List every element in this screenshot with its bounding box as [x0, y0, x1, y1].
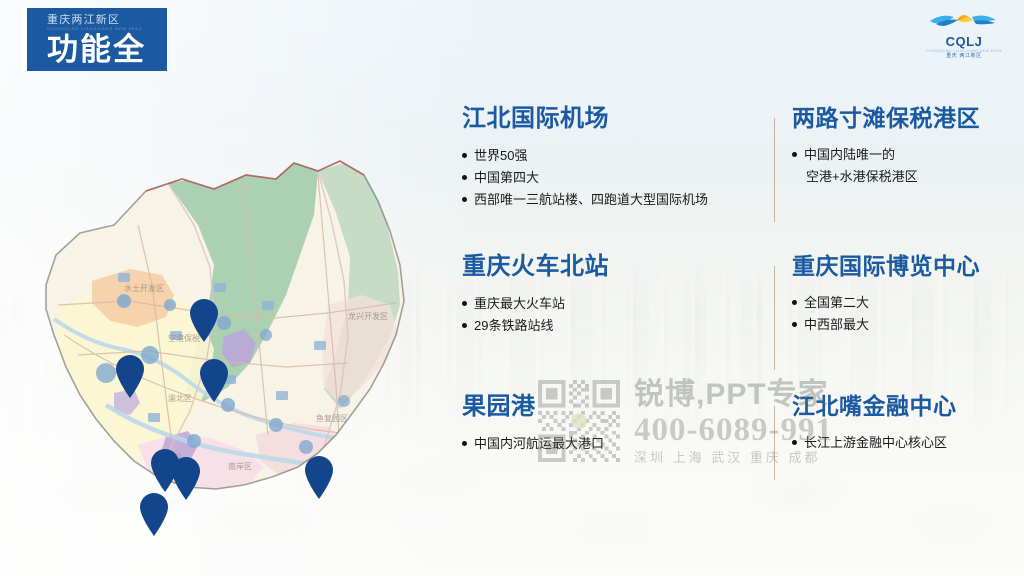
- slide-root: 重庆两江新区 CHONGQING LIANGJIANG NEW AREA 功能全…: [0, 0, 1024, 576]
- section-row-2: 重庆火车北站 重庆最大火车站 29条铁路站线 重庆国际博览中心 全国第二大 中西…: [462, 254, 1014, 394]
- pin-guoyuan-port[interactable]: [303, 454, 335, 500]
- section-bonded-port: 两路寸滩保税港区 中国内陆唯一的 空港+水港保税港区: [774, 106, 1014, 254]
- section-title: 两路寸滩保税港区: [792, 106, 1014, 131]
- section-guoyuan-port: 果园港 中国内河航运最大港口: [462, 394, 774, 506]
- logo-wordmark: CQLJ: [926, 35, 1002, 50]
- map-base: 水土开发区 空港保税 北碚区 渝北区 江北区 南岸区 鱼复园区 龙兴开发区: [18, 105, 438, 505]
- logo-wordmark-cn: 重庆 两江新区: [926, 53, 1002, 60]
- bullet-item: 重庆最大火车站: [462, 293, 760, 315]
- logo-bird-icon: [926, 8, 1002, 30]
- pin-financial-core[interactable]: [138, 491, 170, 537]
- bullet-item: 世界50强: [462, 145, 760, 167]
- map-region: 水土开发区 空港保税 北碚区 渝北区 江北区 南岸区 鱼复园区 龙兴开发区: [18, 105, 438, 505]
- section-rail-north: 重庆火车北站 重庆最大火车站 29条铁路站线: [462, 254, 774, 394]
- pin-bonded-port[interactable]: [198, 357, 230, 403]
- content-columns: 江北国际机场 世界50强 中国第四大 西部唯一三航站楼、四跑道大型国际机场 两路…: [462, 106, 1014, 506]
- page-title: 功能全: [47, 33, 167, 66]
- bullet-item: 29条铁路站线: [462, 315, 760, 337]
- section-title: 果园港: [462, 394, 760, 420]
- section-bullets: 全国第二大 中西部最大: [792, 292, 1014, 336]
- svg-text:渝北区: 渝北区: [168, 393, 192, 403]
- section-expo-center: 重庆国际博览中心 全国第二大 中西部最大: [774, 254, 1014, 394]
- bullet-item-continuation: 空港+水港保税港区: [792, 166, 1014, 188]
- section-airport: 江北国际机场 世界50强 中国第四大 西部唯一三航站楼、四跑道大型国际机场: [462, 106, 774, 254]
- svg-text:鱼复园区: 鱼复园区: [316, 413, 348, 423]
- section-row-3: 果园港 中国内河航运最大港口 江北嘴金融中心 长江上游金融中心核心区: [462, 394, 1014, 506]
- bullet-item: 西部唯一三航站楼、四跑道大型国际机场: [462, 189, 760, 211]
- section-financial-center: 江北嘴金融中心 长江上游金融中心核心区: [774, 394, 1014, 506]
- section-bullets: 中国内陆唯一的 空港+水港保税港区: [792, 144, 1014, 188]
- bullet-item: 中国内陆唯一的: [792, 144, 1014, 166]
- map-illustration: 水土开发区 空港保税 北碚区 渝北区 江北区 南岸区 鱼复园区 龙兴开发区: [18, 105, 438, 505]
- bullet-item: 中国第四大: [462, 167, 760, 189]
- section-bullets: 重庆最大火车站 29条铁路站线: [462, 293, 760, 337]
- section-bullets: 长江上游金融中心核心区: [792, 432, 1014, 454]
- svg-text:龙兴开发区: 龙兴开发区: [348, 311, 388, 321]
- svg-text:南岸区: 南岸区: [228, 461, 252, 471]
- section-title: 重庆国际博览中心: [792, 254, 1014, 279]
- pin-jiangbeizui[interactable]: [170, 455, 202, 501]
- title-badge-subtitle-en: CHONGQING LIANGJIANG NEW AREA: [47, 27, 167, 31]
- section-bullets: 世界50强 中国第四大 西部唯一三航站楼、四跑道大型国际机场: [462, 145, 760, 210]
- section-row-1: 江北国际机场 世界50强 中国第四大 西部唯一三航站楼、四跑道大型国际机场 两路…: [462, 106, 1014, 254]
- title-badge: 重庆两江新区 CHONGQING LIANGJIANG NEW AREA 功能全: [22, 8, 167, 71]
- bullet-item: 中西部最大: [792, 314, 1014, 336]
- pin-airport[interactable]: [188, 297, 220, 343]
- bullet-item: 长江上游金融中心核心区: [792, 432, 1014, 454]
- pin-rail-north[interactable]: [114, 353, 146, 399]
- section-title: 江北国际机场: [462, 106, 760, 132]
- logo: CQLJ CHONGQING LIANGJIANG NEW AREA 重庆 两江…: [926, 8, 1002, 60]
- section-title: 江北嘴金融中心: [792, 394, 1014, 419]
- section-bullets: 中国内河航运最大港口: [462, 433, 760, 455]
- bullet-item: 全国第二大: [792, 292, 1014, 314]
- svg-text:水土开发区: 水土开发区: [124, 283, 164, 293]
- title-badge-subtitle: 重庆两江新区: [47, 15, 167, 26]
- bullet-item: 中国内河航运最大港口: [462, 433, 760, 455]
- section-title: 重庆火车北站: [462, 254, 760, 280]
